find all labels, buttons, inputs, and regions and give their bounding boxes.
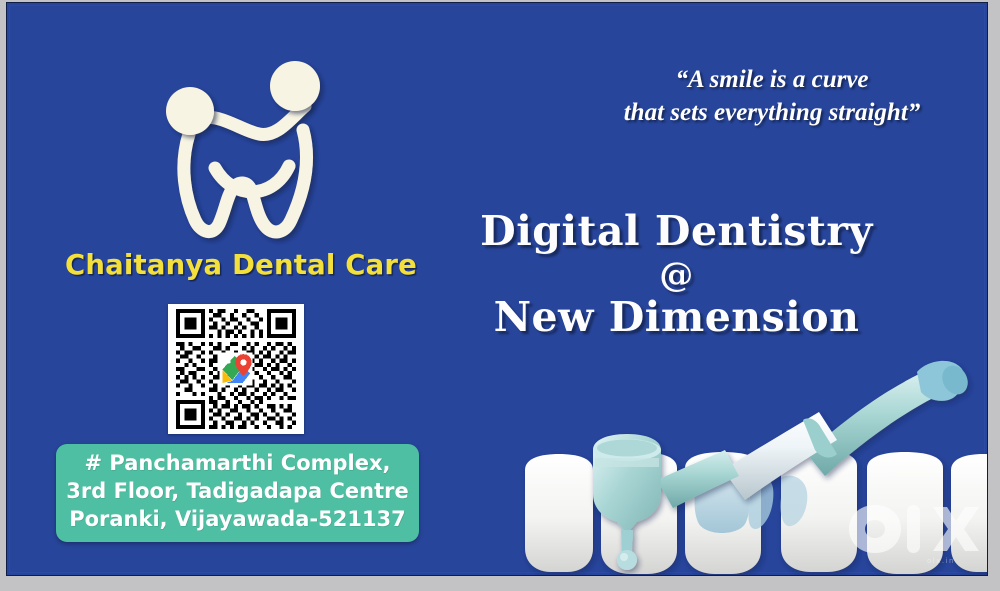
tagline: “A smile is a curve that sets everything…: [577, 63, 967, 129]
google-maps-pin-icon: G: [219, 352, 252, 385]
business-card: Chaitanya Dental Care: [6, 2, 988, 576]
headline-line-1: Digital Dentistry: [439, 209, 914, 255]
qr-code[interactable]: G: [168, 304, 304, 434]
headline: Digital Dentistry @ New Dimension: [439, 209, 914, 341]
brand-name: Chaitanya Dental Care: [65, 249, 415, 281]
address-line-1: # Panchamarthi Complex,: [66, 450, 409, 478]
svg-text:G: G: [224, 357, 231, 367]
address-line-3: Poranki, Vijayawada-521137: [66, 506, 409, 534]
headline-line-3: New Dimension: [439, 295, 914, 341]
address-line-2: 3rd Floor, Tadigadapa Centre: [66, 478, 409, 506]
tagline-line-1: “A smile is a curve: [577, 63, 967, 96]
dental-handpiece-on-teeth: [507, 358, 988, 576]
headline-at-symbol: @: [439, 255, 914, 295]
tooth-two-figures-logo: [155, 48, 355, 248]
tagline-line-2: that sets everything straight”: [577, 96, 967, 129]
screenshot-canvas: Chaitanya Dental Care: [0, 0, 1000, 591]
address-panel: # Panchamarthi Complex, 3rd Floor, Tadig…: [56, 444, 419, 542]
